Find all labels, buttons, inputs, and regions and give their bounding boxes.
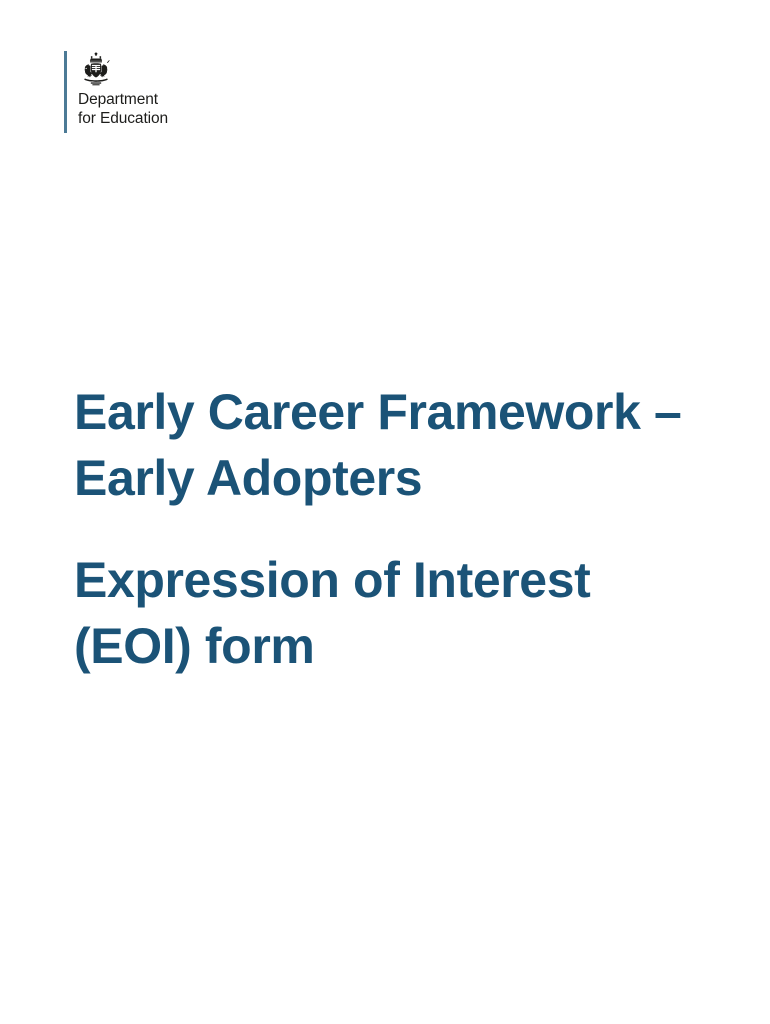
document-subtitle: Expression of Interest (EOI) form	[74, 547, 710, 679]
logo-text-line-2: for Education	[78, 109, 168, 128]
document-page: Department for Education Early Career Fr…	[0, 0, 770, 1024]
document-title: Early Career Framework – Early Adopters	[74, 379, 710, 511]
department-for-education-logo: Department for Education	[64, 51, 168, 133]
title-block: Early Career Framework – Early Adopters …	[74, 379, 710, 679]
logo-body: Department for Education	[67, 51, 168, 133]
logo-text-line-1: Department	[78, 90, 168, 109]
royal-coat-of-arms-crest-icon	[78, 51, 114, 87]
